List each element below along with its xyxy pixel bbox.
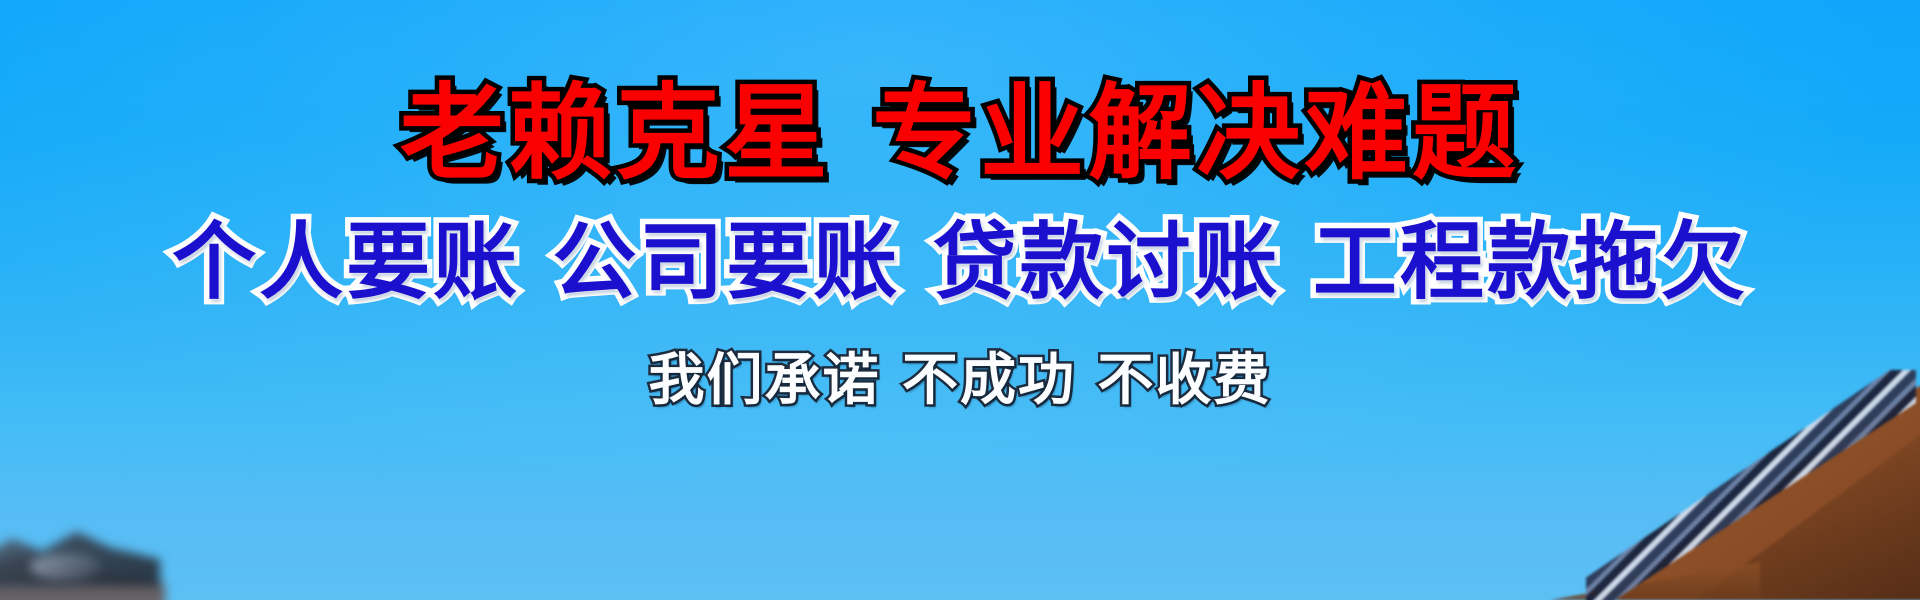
banner-services-line: 个人要账 公司要账 贷款讨账 工程款拖欠 — [172, 218, 1748, 306]
promo-banner: 老赖克星 专业解决难题 个人要账 公司要账 贷款讨账 工程款拖欠 我们承诺 不成… — [0, 0, 1920, 600]
banner-headline: 老赖克星 专业解决难题 — [400, 78, 1520, 188]
banner-promise-tagline: 我们承诺 不成功 不收费 — [649, 352, 1272, 411]
banner-text-stack: 老赖克星 专业解决难题 个人要账 公司要账 贷款讨账 工程款拖欠 我们承诺 不成… — [0, 0, 1920, 600]
